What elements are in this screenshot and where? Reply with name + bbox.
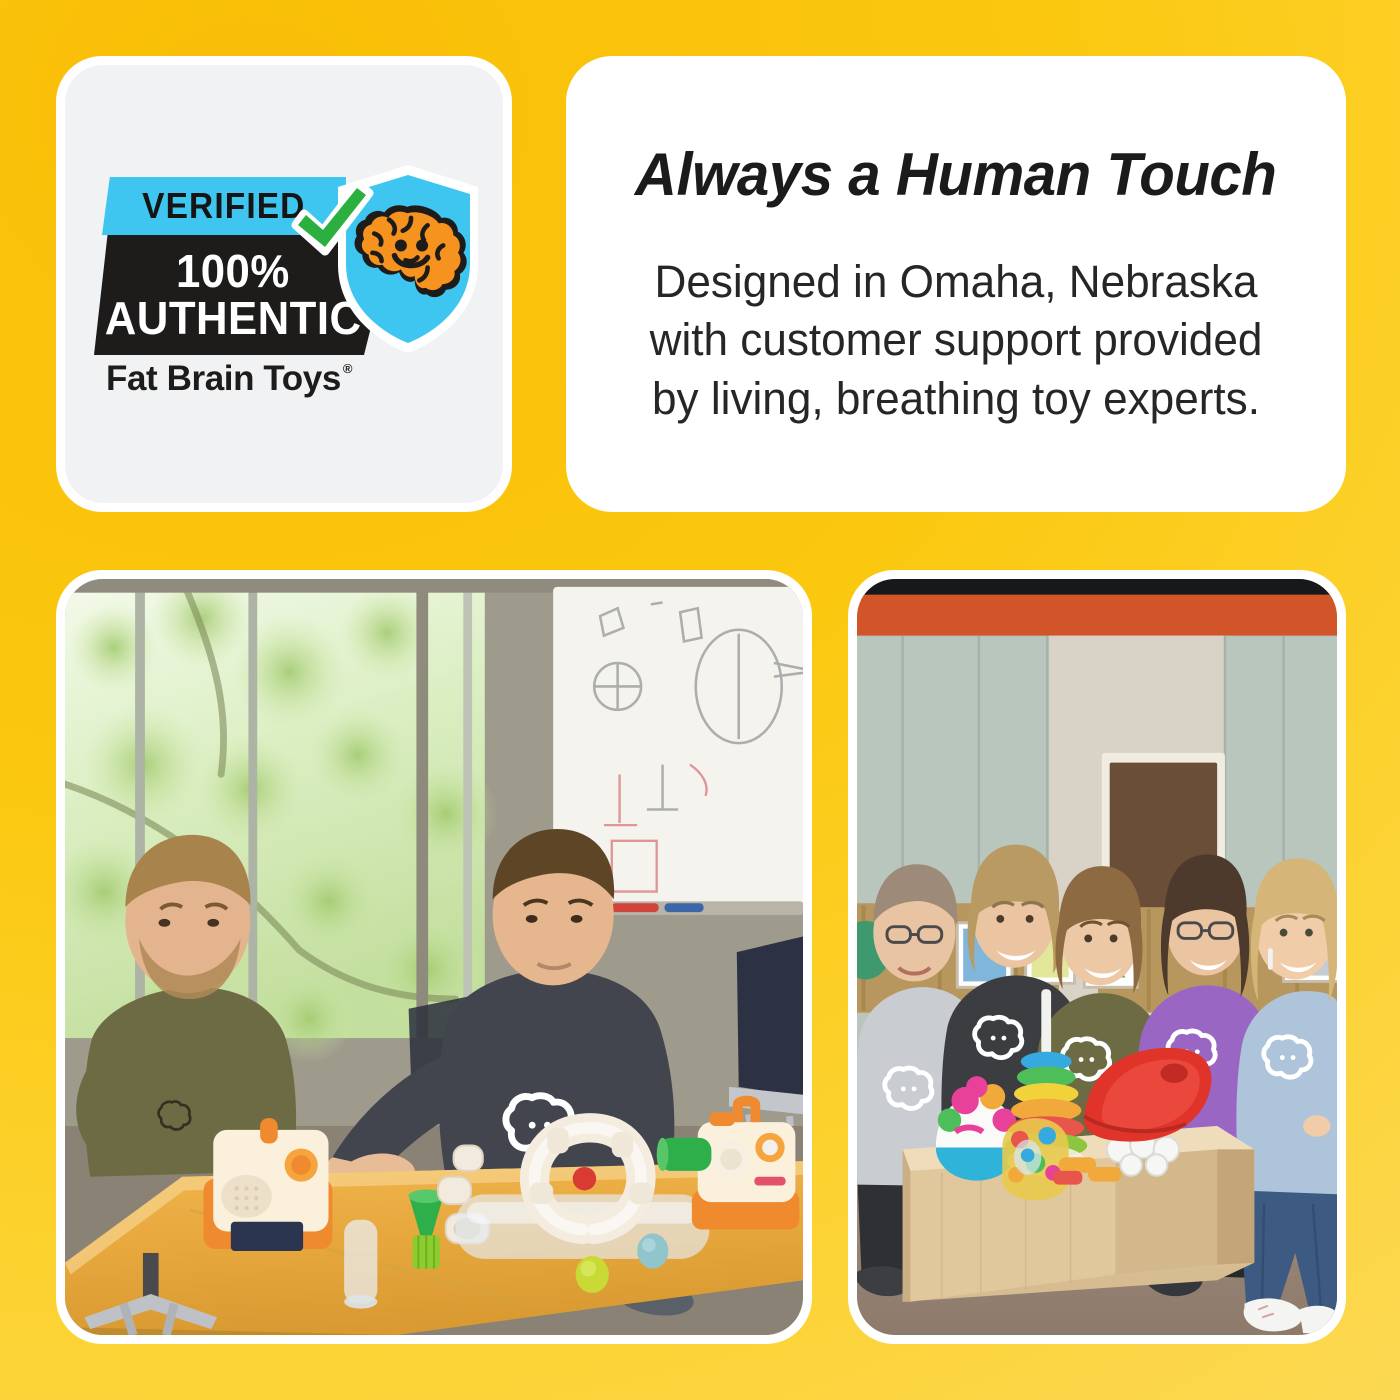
registered-trademark-symbol: ® — [343, 361, 353, 376]
customer-support-team-photo-card — [848, 570, 1346, 1344]
office-photo-frame — [65, 579, 803, 1335]
promo-headline: Always a Human Touch — [635, 140, 1276, 209]
promo-text-card: Always a Human Touch Designed in Omaha, … — [566, 56, 1346, 512]
office-designers-photo-card — [56, 570, 812, 1344]
customer-support-team-photo — [857, 579, 1337, 1335]
percent-label: 100% — [176, 249, 290, 294]
authentic-label: AUTHENTIC — [105, 295, 362, 341]
promo-graphic: VERIFIED 100% AUTHENTIC Fat Brain Toys ®… — [0, 0, 1400, 1400]
verified-label: VERIFIED — [142, 185, 305, 227]
promo-text-inner: Always a Human Touch Designed in Omaha, … — [575, 65, 1337, 503]
authenticity-badge-card: VERIFIED 100% AUTHENTIC Fat Brain Toys ® — [56, 56, 512, 512]
green-checkmark-icon — [290, 181, 374, 265]
badge-card-inner: VERIFIED 100% AUTHENTIC Fat Brain Toys ® — [65, 65, 503, 503]
verified-authentic-badge: VERIFIED 100% AUTHENTIC Fat Brain Toys ® — [94, 159, 474, 409]
fat-brain-toys-wordmark: Fat Brain Toys ® — [106, 359, 376, 399]
promo-body-text: Designed in Omaha, Nebraska with custome… — [642, 253, 1269, 429]
office-designers-photo — [65, 579, 803, 1335]
team-photo-frame — [857, 579, 1337, 1335]
brand-name: Fat Brain Toys — [106, 359, 341, 399]
